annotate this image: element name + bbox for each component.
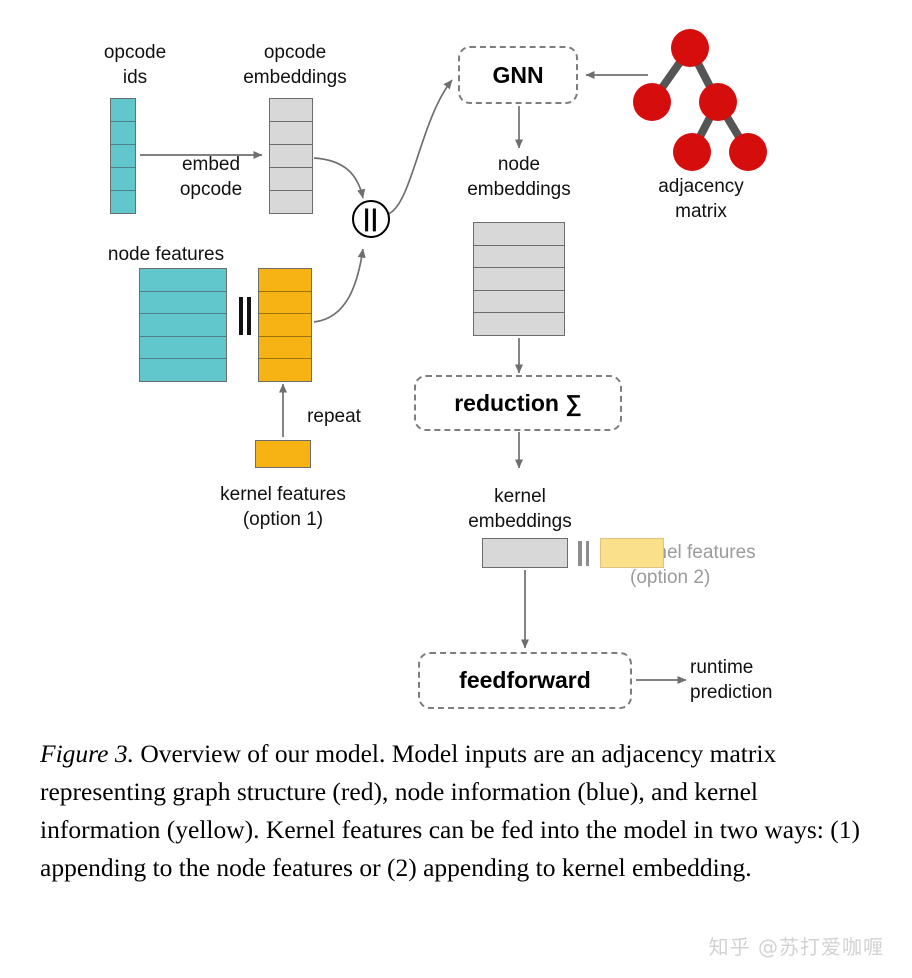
block-cell bbox=[259, 337, 311, 360]
block-cell bbox=[474, 223, 564, 246]
block-kernel-features-repeated bbox=[258, 268, 312, 382]
label-node-embeddings: node embeddings bbox=[440, 152, 598, 202]
block-cell bbox=[140, 292, 226, 315]
block-cell bbox=[259, 269, 311, 292]
block-kernel-embeddings bbox=[482, 538, 568, 568]
block-cell bbox=[259, 314, 311, 337]
label-opcode-ids: opcode ids bbox=[70, 40, 200, 90]
block-cell bbox=[270, 168, 312, 191]
block-cell bbox=[474, 246, 564, 269]
block-cell bbox=[474, 268, 564, 291]
block-cell bbox=[111, 122, 135, 145]
figure-diagram: opcode ids opcode embeddings embed opcod… bbox=[0, 0, 912, 720]
figure-caption: Figure 3. Overview of our model. Model i… bbox=[40, 735, 878, 887]
graph-node bbox=[699, 83, 737, 121]
block-cell bbox=[259, 292, 311, 315]
figure-number: Figure 3. bbox=[40, 739, 134, 768]
arrow-node-kernel-to-concat bbox=[314, 249, 363, 322]
concat-node-circle: || bbox=[352, 200, 390, 238]
block-cell bbox=[111, 145, 135, 168]
block-opcode-ids bbox=[110, 98, 136, 214]
block-cell bbox=[111, 191, 135, 213]
block-cell bbox=[270, 122, 312, 145]
block-node-features bbox=[139, 268, 227, 382]
block-cell bbox=[270, 191, 312, 213]
block-kernel-features-option1 bbox=[255, 440, 311, 468]
feedforward-box[interactable]: feedforward bbox=[418, 652, 632, 709]
watermark-text: 知乎 @苏打爱咖喱 bbox=[709, 931, 884, 960]
block-cell bbox=[140, 337, 226, 360]
block-cell bbox=[111, 99, 135, 122]
block-cell bbox=[270, 145, 312, 168]
label-runtime-prediction: runtime prediction bbox=[690, 655, 850, 705]
label-adjacency-matrix: adjacency matrix bbox=[628, 174, 774, 224]
label-embed-opcode: embed opcode bbox=[153, 152, 269, 202]
block-cell bbox=[140, 359, 226, 381]
figure-caption-text: Overview of our model. Model inputs are … bbox=[40, 739, 860, 882]
graph-node bbox=[729, 133, 767, 171]
label-opcode-embeddings: opcode embeddings bbox=[210, 40, 380, 90]
label-kernel-embeddings: kernel embeddings bbox=[442, 484, 598, 534]
block-opcode-embeddings bbox=[269, 98, 313, 214]
concat-symbol-node-kernel bbox=[239, 297, 251, 335]
block-cell bbox=[474, 291, 564, 314]
block-node-embeddings bbox=[473, 222, 565, 336]
block-cell bbox=[474, 313, 564, 335]
block-cell bbox=[259, 359, 311, 381]
concat-symbol-kernel-embedding bbox=[578, 541, 589, 566]
arrow-opcode-emb-to-concat bbox=[314, 158, 363, 198]
graph-node bbox=[671, 29, 709, 67]
block-cell bbox=[140, 314, 226, 337]
label-repeat: repeat bbox=[288, 405, 380, 429]
label-kernel-features-option1: kernel features (option 1) bbox=[190, 482, 376, 532]
block-cell bbox=[140, 269, 226, 292]
block-kernel-features-option2 bbox=[600, 538, 664, 568]
label-kernel-features-option2: kernel features (option 2) bbox=[630, 540, 860, 590]
adjacency-graph bbox=[633, 29, 767, 171]
reduction-box[interactable]: reduction ∑ bbox=[414, 375, 622, 431]
block-cell bbox=[111, 168, 135, 191]
block-cell bbox=[270, 99, 312, 122]
graph-node bbox=[673, 133, 711, 171]
graph-node bbox=[633, 83, 671, 121]
gnn-box[interactable]: GNN bbox=[458, 46, 578, 104]
diagram-connectors bbox=[0, 0, 912, 720]
label-node-features: node features bbox=[80, 243, 252, 267]
